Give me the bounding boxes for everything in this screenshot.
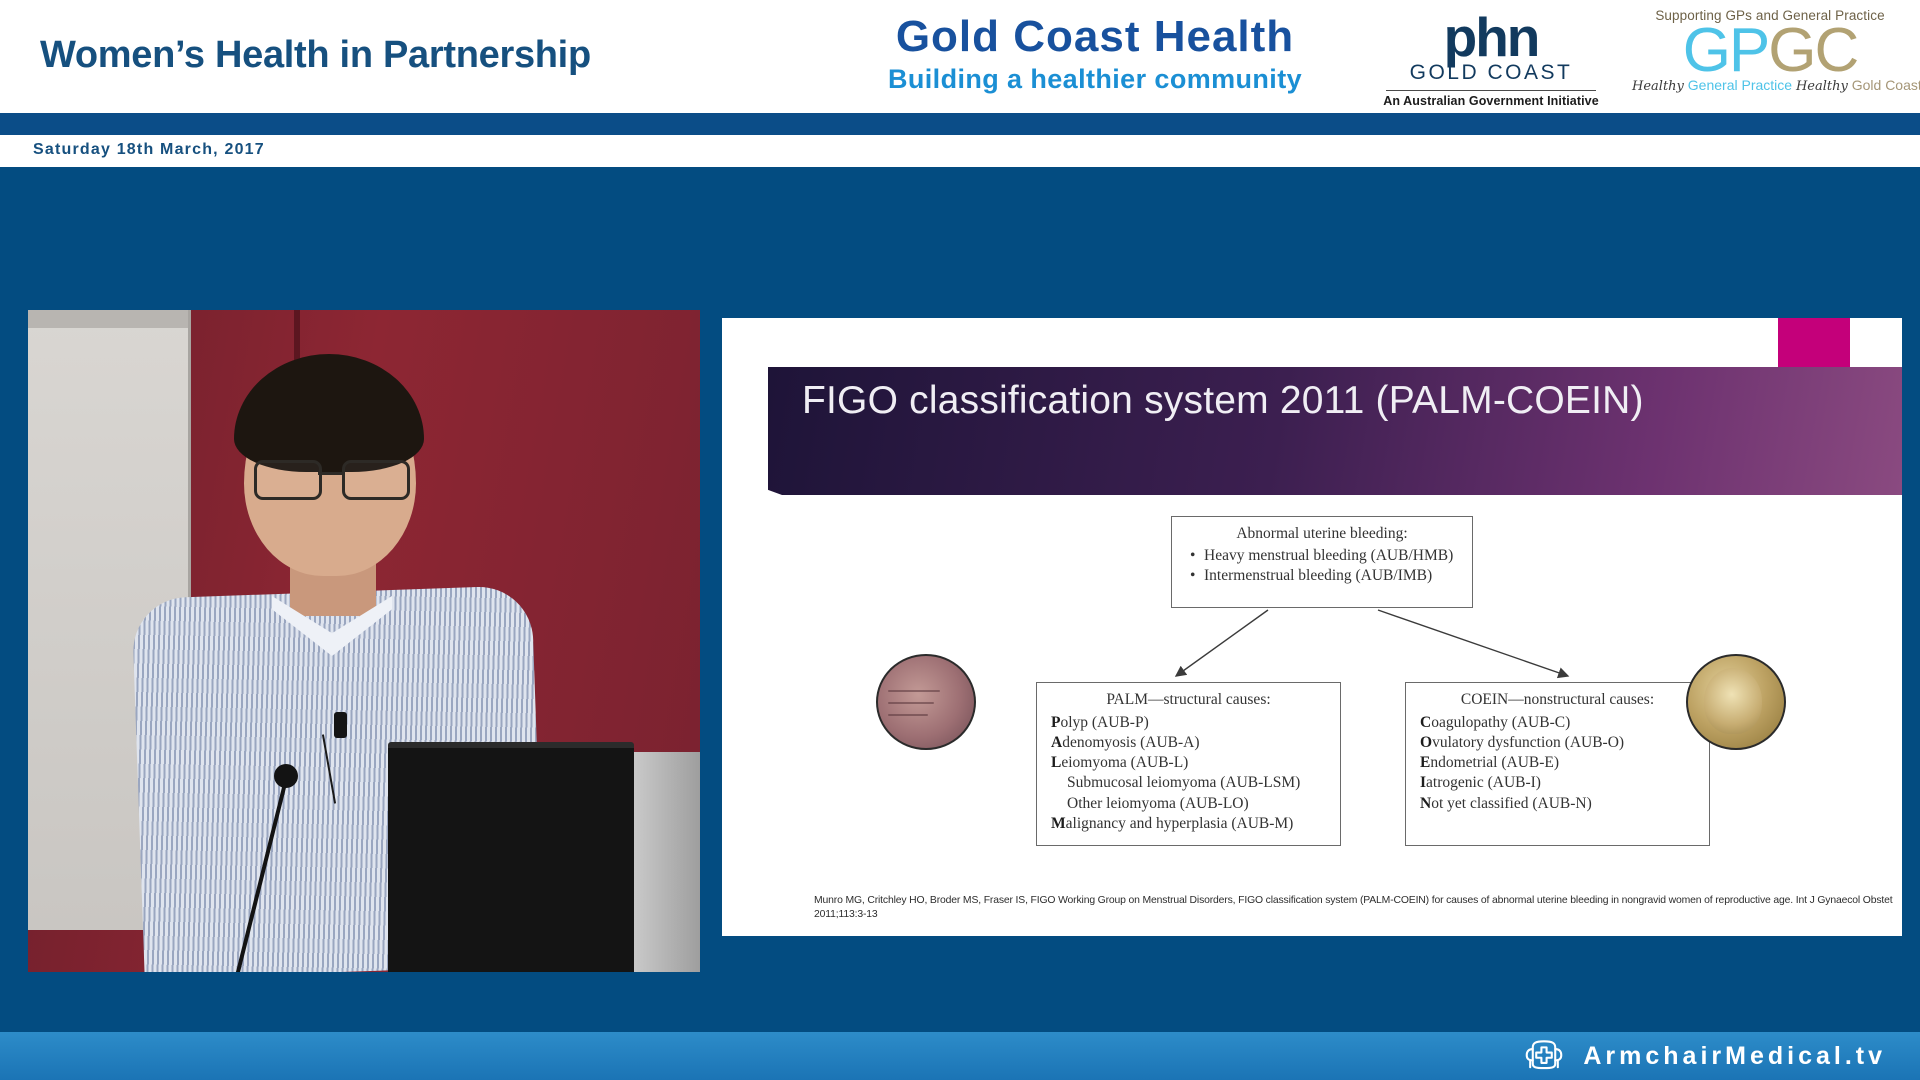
phn-logo-divider	[1386, 90, 1596, 91]
palm-of-hand-photo	[876, 654, 976, 750]
podium-monitor-side-panel	[634, 752, 700, 972]
glasses-right-lens	[342, 460, 410, 500]
gpgc-mark-gp: GP	[1683, 16, 1769, 85]
palm-box-items: Polyp (AUB-P)Adenomyosis (AUB-A)Leiomyom…	[1037, 713, 1340, 834]
phn-logo-region: GOLD COAST	[1382, 61, 1600, 85]
presenter-video[interactable]	[28, 310, 700, 972]
cause-item-initial: C	[1420, 714, 1431, 731]
microphone-head	[274, 764, 298, 788]
cause-item-initial: O	[1420, 734, 1432, 751]
cause-item-initial: P	[1051, 714, 1060, 731]
lapel-microphone	[334, 712, 347, 738]
cause-item-initial: L	[1051, 754, 1061, 771]
gpgc-footer-healthy-1: Healthy	[1632, 79, 1684, 94]
gch-logo-primary: Gold Coast Health	[845, 14, 1345, 60]
cause-item: Leiomyoma (AUB-L)	[1037, 753, 1340, 773]
video-whiteboard-top-rail	[28, 310, 188, 328]
cause-item-initial: E	[1420, 754, 1430, 771]
aub-box-item: Intermenstrual bleeding (AUB/IMB)	[1182, 566, 1462, 586]
slide-citation: Munro MG, Critchley HO, Broder MS, Frase…	[814, 894, 1904, 921]
presenter-glasses	[252, 460, 408, 494]
gold-coast-health-logo: Gold Coast Health Building a healthier c…	[845, 14, 1345, 95]
cause-item: Iatrogenic (AUB-I)	[1406, 773, 1709, 793]
cause-item: Endometrial (AUB-E)	[1406, 753, 1709, 773]
header-blue-stripe	[0, 113, 1920, 135]
cause-item: Adenomyosis (AUB-A)	[1037, 733, 1340, 753]
gpgc-footer-general-practice: General Practice	[1688, 77, 1792, 93]
coein-box-items: Coagulopathy (AUB-C)Ovulatory dysfunctio…	[1406, 713, 1709, 814]
gpgc-mark-gc: GC	[1768, 16, 1857, 85]
cause-item-initial: N	[1420, 795, 1431, 812]
cause-item: Submucosal leiomyoma (AUB-LSM)	[1037, 773, 1340, 793]
gpgc-footer-healthy-2: Healthy	[1796, 79, 1848, 94]
aub-box-heading: Abnormal uterine bleeding:	[1182, 525, 1462, 543]
palm-coein-diagram: Abnormal uterine bleeding: Heavy menstru…	[768, 506, 1902, 936]
glasses-left-lens	[254, 460, 322, 500]
gold-coin-photo	[1686, 654, 1786, 750]
presentation-slide[interactable]: FIGO classification system 2011 (PALM-CO…	[722, 318, 1902, 936]
aub-box-item: Heavy menstrual bleeding (AUB/HMB)	[1182, 546, 1462, 566]
page-title: Women’s Health in Partnership	[40, 34, 591, 77]
podium-monitor	[388, 742, 634, 972]
gpgc-logo: Supporting GPs and General Practice GPGC…	[1632, 8, 1908, 94]
cause-item: Other leiomyoma (AUB-LO)	[1037, 794, 1340, 814]
slide-title: FIGO classification system 2011 (PALM-CO…	[802, 378, 1852, 424]
armchair-medical-cross-icon	[1523, 1037, 1565, 1075]
cause-item: Coagulopathy (AUB-C)	[1406, 713, 1709, 733]
gch-logo-tagline: Building a healthier community	[845, 64, 1345, 95]
phn-logo-word: phn	[1382, 12, 1600, 63]
glasses-bridge	[318, 472, 344, 475]
palm-box-title: PALM—structural causes:	[1037, 691, 1340, 709]
footer-bar: ArmchairMedical.tv	[0, 1032, 1920, 1080]
phn-gold-coast-logo: phn GOLD COAST An Australian Government …	[1382, 12, 1600, 108]
footer-brand[interactable]: ArmchairMedical.tv	[1523, 1037, 1886, 1075]
cause-item: Polyp (AUB-P)	[1037, 713, 1340, 733]
phn-logo-government-line: An Australian Government Initiative	[1382, 94, 1600, 108]
abnormal-uterine-bleeding-box: Abnormal uterine bleeding: Heavy menstru…	[1171, 516, 1473, 608]
coein-box-title: COEIN—nonstructural causes:	[1406, 691, 1709, 709]
cause-item-initial: I	[1420, 774, 1426, 791]
date-bar: Saturday 18th March, 2017	[0, 135, 1920, 167]
cause-item: Malignancy and hyperplasia (AUB-M)	[1037, 814, 1340, 834]
cause-item-initial: M	[1051, 815, 1066, 832]
gpgc-logo-mark: GPGC	[1632, 21, 1908, 81]
footer-brand-text: ArmchairMedical.tv	[1583, 1042, 1886, 1071]
event-date: Saturday 18th March, 2017	[33, 141, 265, 159]
cause-item-initial: A	[1051, 734, 1062, 751]
coin-portrait	[1704, 668, 1762, 734]
cause-item: Not yet classified (AUB-N)	[1406, 794, 1709, 814]
coein-nonstructural-causes-box: COEIN—nonstructural causes: Coagulopathy…	[1405, 682, 1710, 846]
gpgc-footer-gold-coast: Gold Coast	[1852, 77, 1920, 93]
page-header: Women’s Health in Partnership Gold Coast…	[0, 0, 1920, 133]
palm-structural-causes-box: PALM—structural causes: Polyp (AUB-P)Ade…	[1036, 682, 1341, 846]
gpgc-logo-footer: Healthy General Practice Healthy Gold Co…	[1632, 77, 1908, 94]
cause-item: Ovulatory dysfunction (AUB-O)	[1406, 733, 1709, 753]
screen: Women’s Health in Partnership Gold Coast…	[0, 0, 1920, 1080]
